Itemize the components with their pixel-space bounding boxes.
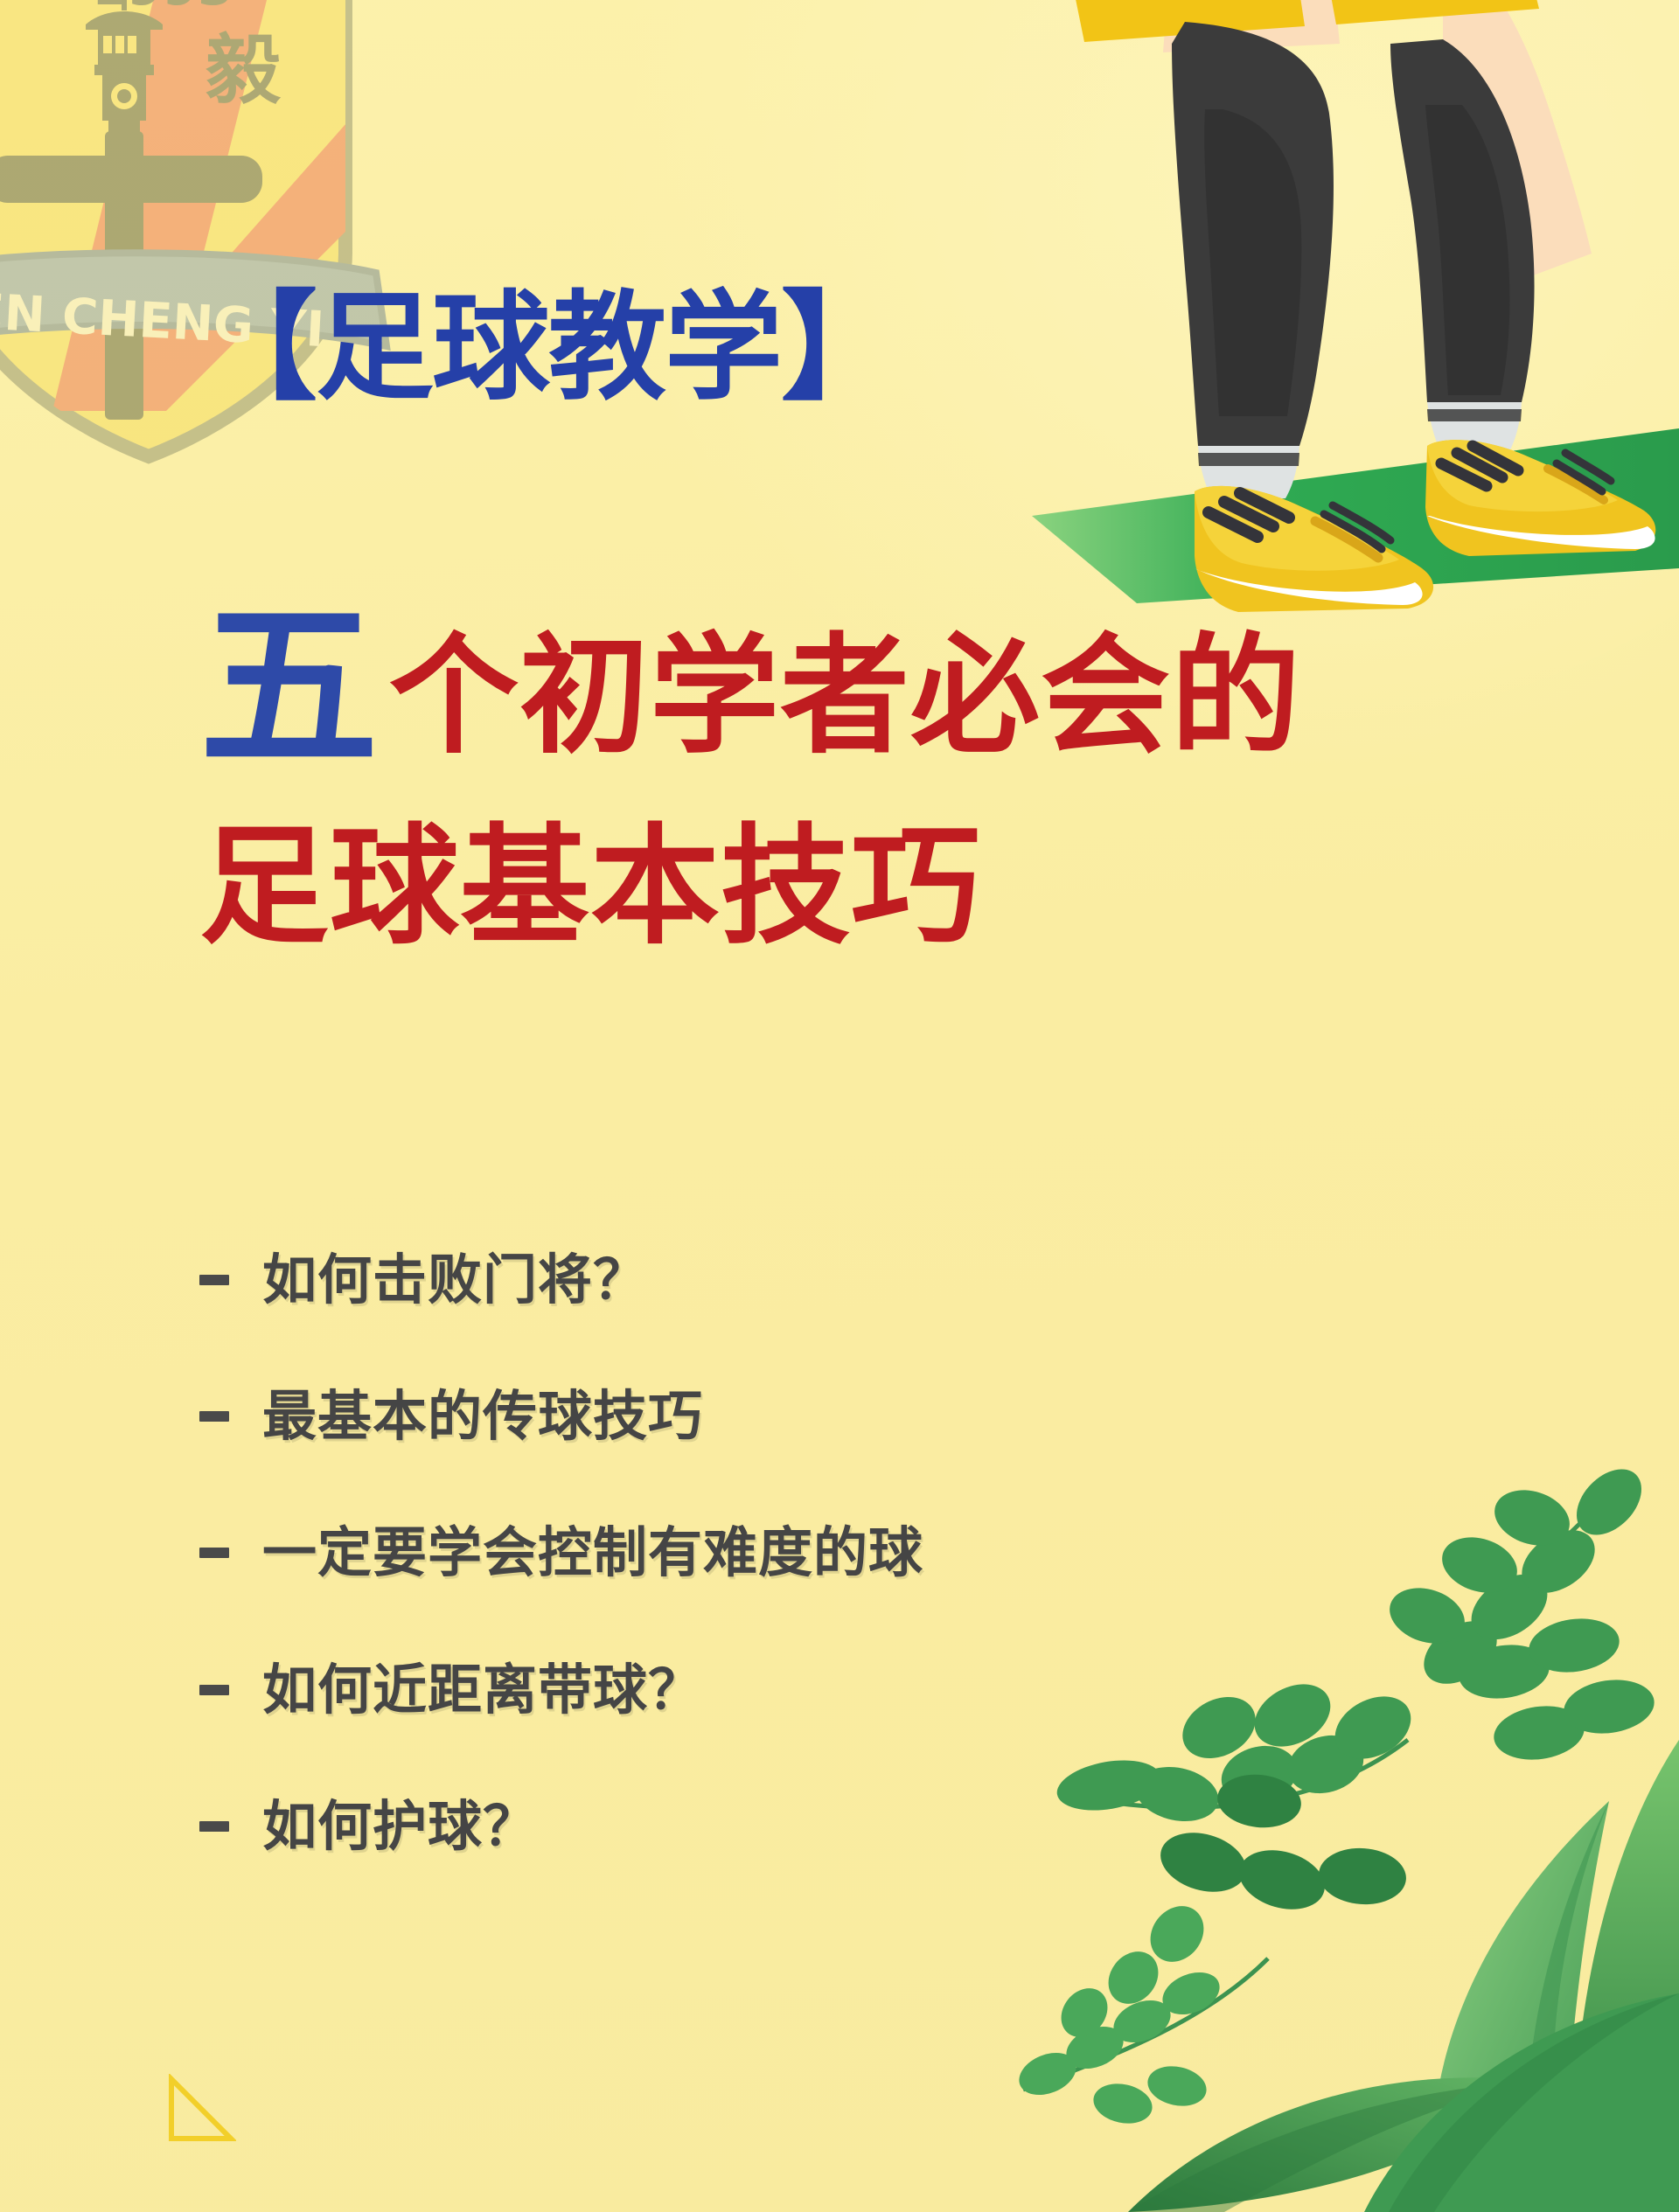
list-item-label: 如何护球？: [262, 1797, 538, 1856]
headline-red-line-2: 足球基本技巧: [199, 819, 1424, 955]
list-item: 一定要学会控制有难度的球: [199, 1523, 1441, 1582]
dash-marker-icon: [199, 1411, 229, 1422]
dash-marker-icon: [199, 1821, 229, 1832]
headline-red-line-1: 个初学者必会的: [389, 629, 1301, 773]
list-item: 如何击败门将？: [199, 1250, 1441, 1310]
list-item-label: 最基本的传球技巧: [262, 1387, 703, 1446]
list-item: 如何近距离带球？: [199, 1660, 1441, 1720]
list-item: 最基本的传球技巧: [199, 1387, 1441, 1446]
dash-marker-icon: [199, 1548, 229, 1558]
page-title: 【足球教学】: [199, 289, 897, 407]
poster-canvas: 1993 誠 毅: [0, 0, 1679, 2212]
headline-number: 五: [199, 603, 375, 774]
headline-row-1: 五 个初学者必会的: [199, 603, 1424, 774]
list-item-label: 如何近距离带球？: [262, 1660, 703, 1720]
list-item-label: 一定要学会控制有难度的球: [262, 1523, 923, 1582]
dash-marker-icon: [199, 1275, 229, 1285]
bullet-list: 如何击败门将？ 最基本的传球技巧 一定要学会控制有难度的球 如何近距离带球？ 如…: [199, 1250, 1441, 1856]
headline-block: 五 个初学者必会的 足球基本技巧: [199, 603, 1424, 955]
list-item: 如何护球？: [199, 1797, 1441, 1856]
poster-content: 【足球教学】 五 个初学者必会的 足球基本技巧 如何击败门将？ 最基本的传球技巧…: [0, 0, 1679, 2212]
list-item-label: 如何击败门将？: [262, 1250, 648, 1310]
dash-marker-icon: [199, 1685, 229, 1695]
